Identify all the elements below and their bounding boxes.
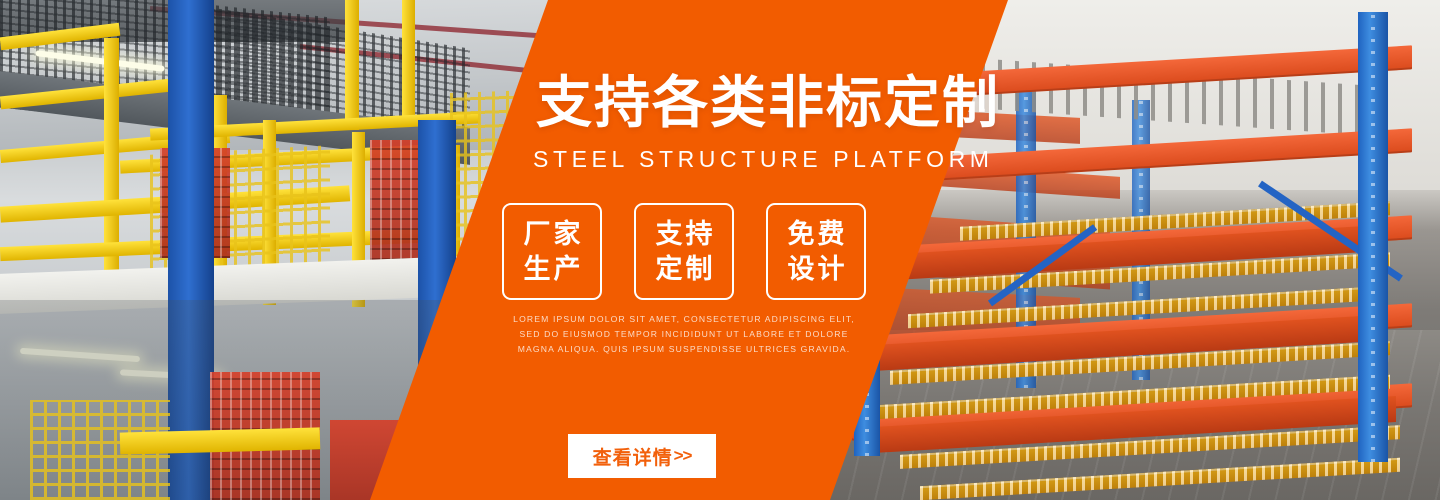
badge-line-2: 设计 (785, 252, 848, 287)
badge-manufacturer: 厂家 生产 (502, 203, 602, 300)
cta-label: 查看详情 (593, 443, 673, 470)
badge-customization: 支持 定制 (634, 203, 734, 300)
badge-line-1: 支持 (653, 217, 716, 252)
badge-free-design: 免费 设计 (766, 203, 866, 300)
promo-banner: 支持各类非标定制 STEEL STRUCTURE PLATFORM 厂家 生产 … (0, 0, 1440, 500)
headline: 支持各类非标定制 (536, 75, 1000, 131)
banner-content: 支持各类非标定制 STEEL STRUCTURE PLATFORM 厂家 生产 … (0, 0, 1440, 500)
subtitle: STEEL STRUCTURE PLATFORM (533, 146, 994, 173)
description-paragraph: Lorem ipsum dolor sit amet, consectetur … (508, 312, 860, 356)
view-details-button[interactable]: 查看详情>> (568, 434, 716, 478)
feature-badges: 厂家 生产 支持 定制 免费 设计 (502, 203, 866, 300)
badge-line-1: 免费 (785, 217, 848, 252)
chevron-right-icon: >> (674, 446, 692, 466)
badge-line-2: 生产 (521, 252, 584, 287)
badge-line-1: 厂家 (521, 217, 584, 252)
badge-line-2: 定制 (653, 252, 716, 287)
